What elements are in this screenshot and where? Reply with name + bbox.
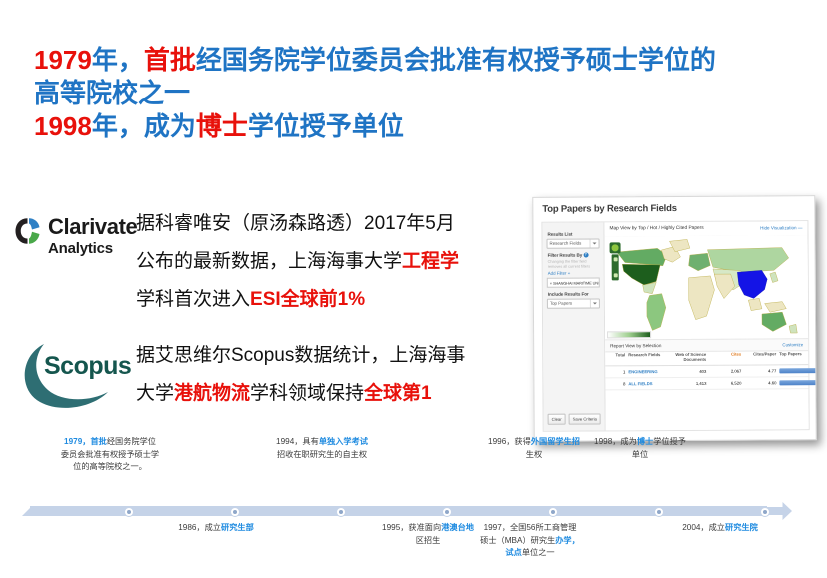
hide-visualization-label: Hide Visualization [760, 225, 796, 230]
row-cites-per-paper: 4.77 [744, 368, 779, 373]
map-pan-icon[interactable] [610, 242, 621, 253]
row-research-field[interactable]: ENGINEERING [628, 369, 674, 374]
page-title: 1979年，首批经国务院学位委员会批准有权授予硕士学位的 高等院校之一 1998… [34, 44, 814, 143]
map-controls[interactable] [610, 242, 621, 280]
scopus-line-2: 大学港航物流学科领域保持全球第1 [136, 375, 526, 413]
col-top-papers[interactable]: Top Papers [779, 351, 817, 361]
table-row[interactable]: 8 ALL FIELDS 1,413 6,520 4.60 1 [605, 377, 808, 390]
timeline-item-text: 单位之一 [522, 548, 555, 557]
timeline-item-text: 研究生院 [725, 523, 758, 532]
world-map-svg [604, 235, 808, 339]
chevron-down-icon [590, 239, 598, 247]
row-top-papers-bar: 1 [779, 380, 816, 385]
col-cites-per-paper[interactable]: Cites/Paper [744, 351, 779, 361]
col-cites[interactable]: Cites [709, 352, 744, 362]
clear-button[interactable]: Clear [548, 414, 566, 425]
timeline-dot [760, 507, 770, 517]
research-fields-table: Total Research Fields Web of Science Doc… [605, 349, 808, 390]
results-list-label: Results List [547, 231, 599, 236]
timeline-dot [548, 507, 558, 517]
row-index: 1 [609, 369, 628, 374]
timeline-dot [442, 507, 452, 517]
row-cites: 6,520 [709, 381, 744, 386]
col-total[interactable]: Total [609, 352, 628, 362]
map-view-title: Map View by Top / Hot / Highly Cited Pap… [609, 226, 703, 232]
timeline-item-text: 研究生部 [221, 523, 254, 532]
timeline-item-text: 区招生 [416, 536, 441, 545]
clarivate-mark-icon [14, 216, 44, 246]
filter-note: Changing the filter field removes all cu… [548, 260, 599, 269]
timeline-item-4: 1995，获准面向港澳台地区招生 [378, 522, 478, 547]
timeline-item-text: 1996，获得 [488, 437, 531, 446]
sidebar-button-row: Clear Save Criteria [548, 413, 601, 424]
help-icon[interactable]: ? [583, 253, 588, 258]
timeline-item-text: 首批 [90, 437, 106, 446]
include-results-label: Include Results For [548, 292, 600, 297]
row-cites-per-paper: 4.60 [744, 380, 779, 385]
filter-chip-shanghai-maritime-univ[interactable]: × SHANGHAI MARITIME UNIV [547, 278, 600, 288]
timeline-arrow [22, 503, 792, 519]
timeline-item-text: 港澳台地 [441, 523, 474, 532]
col-wos-documents[interactable]: Web of Science Documents [674, 352, 709, 362]
timeline-item-text: 博士 [637, 437, 653, 446]
timeline-item-text: 1998，成为 [594, 437, 637, 446]
timeline-item-5: 1996，获得外国留学生招生权 [484, 436, 584, 461]
timeline-item-2: 1986，成立研究生部 [166, 522, 266, 535]
timeline-item-6: 1997，全国56所工商管理硕士（MBA）研究生办学，试点单位之一 [480, 522, 580, 560]
clarivate-subwordmark: Analytics [48, 240, 113, 257]
world-map[interactable] [604, 235, 808, 339]
add-filter-link[interactable]: Add Filter + [548, 271, 599, 276]
map-zoom-slider[interactable] [612, 254, 619, 280]
screenshot-main: Map View by Top / Hot / Highly Cited Pap… [604, 221, 808, 430]
scopus-logo: Scopus [14, 336, 130, 414]
timeline-item-text: 生权 [526, 450, 542, 459]
include-results-select[interactable]: Top Papers [547, 299, 600, 309]
slide-root: 1979年，首批经国务院学位委员会批准有权授予硕士学位的 高等院校之一 1998… [0, 0, 827, 578]
screenshot-sidebar: Results List Research Fields Filter Resu… [542, 222, 605, 430]
clarivate-line-3: 学科首次进入ESI全球前1% [136, 281, 526, 319]
timeline-item-text: 单独入学考试 [319, 437, 368, 446]
row-documents: 403 [674, 369, 709, 374]
row-top-papers-bar: 1 [779, 368, 816, 373]
headline-line-1: 1979年，首批经国务院学位委员会批准有权授予硕士学位的 [34, 44, 814, 77]
scopus-description: 据艾思维尔Scopus数据统计，上海海事 大学港航物流学科领域保持全球第1 [136, 337, 526, 413]
collapse-icon: — [798, 225, 803, 230]
timeline-item-text: 外国留学生招 [531, 437, 580, 446]
timeline-item-3: 1994，具有单独入学考试招收在职研究生的自主权 [272, 436, 372, 461]
filter-results-label: Filter Results By? [548, 252, 600, 258]
row-index: 8 [609, 381, 628, 386]
row-research-field[interactable]: ALL FIELDS [628, 381, 674, 386]
timeline-item-text: 1979， [64, 437, 90, 446]
filter-results-text: Filter Results By [548, 253, 583, 258]
timeline-item-text: 1986，成立 [178, 523, 221, 532]
timeline-item-text: 2004，成立 [682, 523, 725, 532]
timeline-dot [654, 507, 664, 517]
hide-visualization-link[interactable]: Hide Visualization — [760, 225, 802, 230]
clarivate-line-2: 公布的最新数据，上海海事大学工程学 [136, 243, 526, 281]
headline-line-3: 1998年，成为博士学位授予单位 [34, 110, 814, 143]
screenshot-body: Results List Research Fields Filter Resu… [541, 220, 809, 432]
timeline-item-text: 1994，具有 [276, 437, 319, 446]
timeline-dot [230, 507, 240, 517]
timeline-dot [124, 507, 134, 517]
headline-line-2: 高等院校之一 [34, 77, 814, 110]
scopus-wordmark: Scopus [44, 352, 131, 381]
timeline-item-8: 2004，成立研究生院 [670, 522, 770, 535]
results-list-select[interactable]: Research Fields [547, 238, 600, 248]
save-criteria-button[interactable]: Save Criteria [569, 413, 601, 424]
timeline-item-text: 招收在职研究生的自主权 [277, 450, 367, 459]
customize-link[interactable]: Customize [782, 342, 803, 347]
timeline-item-1: 1979，首批经国务院学位委员会批准有权授予硕士学位的高等院校之一。 [60, 436, 160, 474]
timeline-item-text: 1995，获准面向 [382, 523, 441, 532]
col-research-fields[interactable]: Research Fields [628, 352, 674, 362]
clarivate-logo: Clarivate Analytics [8, 212, 136, 274]
incites-screenshot-panel: Top Papers by Research Fields Results Li… [532, 195, 816, 442]
screenshot-title: Top Papers by Research Fields [542, 203, 677, 215]
scopus-line-1: 据艾思维尔Scopus数据统计，上海海事 [136, 337, 526, 375]
clarivate-wordmark: Clarivate [48, 214, 137, 240]
row-documents: 1,413 [674, 381, 709, 386]
timeline-dot [336, 507, 346, 517]
table-header-row: Total Research Fields Web of Science Doc… [605, 349, 808, 366]
clarivate-description: 据科睿唯安（原汤森路透）2017年5月 公布的最新数据，上海海事大学工程学 学科… [136, 205, 526, 319]
include-results-value: Top Papers [550, 301, 572, 306]
map-legend [607, 331, 651, 338]
timeline-item-7: 1998，成为博士学位授予单位 [590, 436, 690, 461]
results-list-value: Research Fields [550, 241, 582, 246]
row-cites: 2,067 [709, 369, 744, 374]
clarivate-line-1: 据科睿唯安（原汤森路透）2017年5月 [136, 205, 526, 243]
chevron-down-icon [590, 300, 598, 308]
timeline-arrow-head [767, 502, 792, 520]
timeline: 1979，首批经国务院学位委员会批准有权授予硕士学位的高等院校之一。1986，成… [0, 436, 827, 578]
report-view-label: Report View by Selection [610, 343, 661, 348]
